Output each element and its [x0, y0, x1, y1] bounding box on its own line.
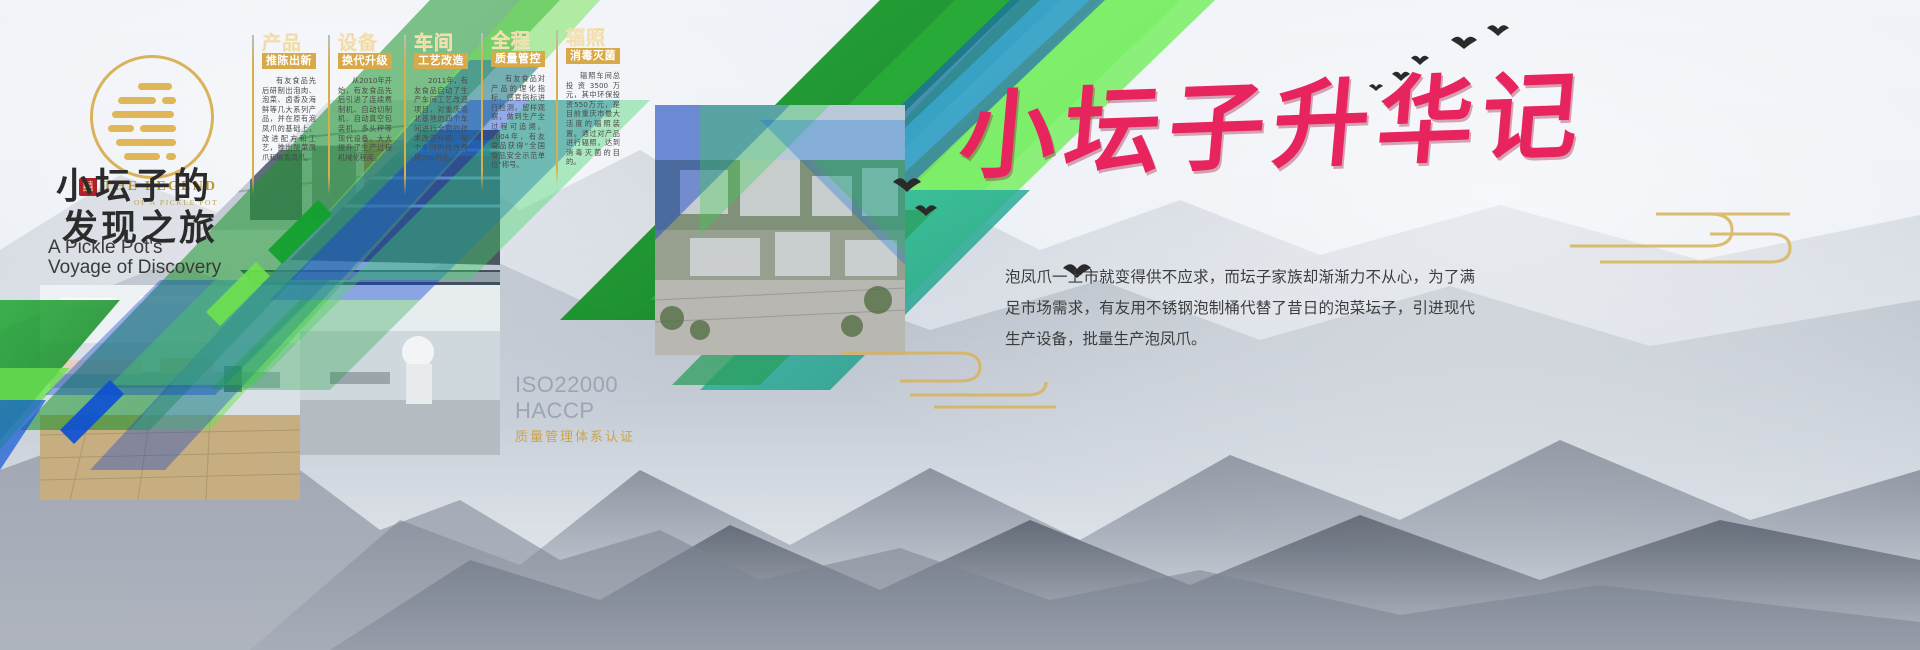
column-body-1: 有友食品先后研制出泡肉、泡菜、卤香及海鲜等几大系列产品，并在原有泡凤爪的基础上，… — [262, 76, 316, 162]
certification-caption: 质量管理体系认证 — [515, 426, 635, 445]
column-tag-2: 设备 换代升级 — [338, 33, 392, 69]
column-body-4: 有友食品对产品的理化指标、感官指标进行检测，留样观察，做到生产全过程可追溯。20… — [491, 74, 545, 170]
column-tag-3: 车间 工艺改造 — [414, 33, 468, 69]
column-tag-1-main: 产品 — [262, 33, 316, 53]
column-tag-5: 辐照 消毒灭菌 — [566, 28, 620, 64]
hero-title-calligraphy: 小坛子升华记 — [960, 78, 1500, 198]
hero-paragraph: 泡凤爪一上市就变得供不应求，而坛子家族却渐渐力不从心，为了满足市场需求，有友用不… — [1005, 262, 1475, 355]
column-tag-5-main: 辐照 — [566, 28, 620, 48]
column-tag-1: 产品 推陈出新 — [262, 33, 316, 69]
info-column-1: 产品 推陈出新 有友食品先后研制出泡肉、泡菜、卤香及海鲜等几大系列产品，并在原有… — [262, 33, 316, 162]
info-column-4: 全程 质量管控 有友食品对产品的理化指标、感官指标进行检测，留样观察，做到生产全… — [491, 31, 545, 170]
column-body-2: 从2010年开始，有友食品先后引进了连续煮制机、自动切制机、自动真空包装机、多头… — [338, 76, 392, 162]
info-column-5: 辐照 消毒灭菌 辐照车间总投资3500万元，其中环保投资550万元，是目前重庆市… — [566, 28, 620, 167]
column-tag-1-sub: 推陈出新 — [262, 53, 316, 69]
column-tag-3-main: 车间 — [414, 33, 468, 53]
column-tag-4-main: 全程 — [491, 31, 545, 51]
column-tag-2-main: 设备 — [338, 33, 392, 53]
info-column-3: 车间 工艺改造 2011年，有友食品启动了生产车间工艺改造项目，对重庆渝北基地的… — [414, 33, 468, 162]
certification-block: ISO22000 HACCP 质量管理体系认证 — [515, 372, 635, 445]
info-column-2: 设备 换代升级 从2010年开始，有友食品先后引进了连续煮制机、自动切制机、自动… — [338, 33, 392, 162]
column-tag-2-sub: 换代升级 — [338, 53, 392, 69]
certification-haccp: HACCP — [515, 398, 635, 424]
column-tag-4: 全程 质量管控 — [491, 31, 545, 67]
poster-canvas: 囍 THE LEGEND OF A PICKLE POT 小坛子的 小坛子的 发… — [0, 0, 1920, 650]
brand-title-cn-l1: 小坛子的 — [56, 166, 248, 208]
column-tag-4-sub: 质量管控 — [491, 51, 545, 67]
column-tag-5-sub: 消毒灭菌 — [566, 48, 620, 64]
column-body-3: 2011年，有友食品启动了生产车间工艺改造项目，对重庆渝北基地的四个车间进行全面… — [414, 76, 468, 162]
brand-title-en-line2: Voyage of Discovery — [48, 256, 221, 280]
certification-iso: ISO22000 — [515, 372, 635, 398]
column-body-5: 辐照车间总投资3500万元，其中环保投资550万元，是目前重庆市最大活度的辐照装… — [566, 71, 620, 167]
column-tag-3-sub: 工艺改造 — [414, 53, 468, 69]
hero-title-text: 小坛子升华记 — [955, 59, 1507, 196]
